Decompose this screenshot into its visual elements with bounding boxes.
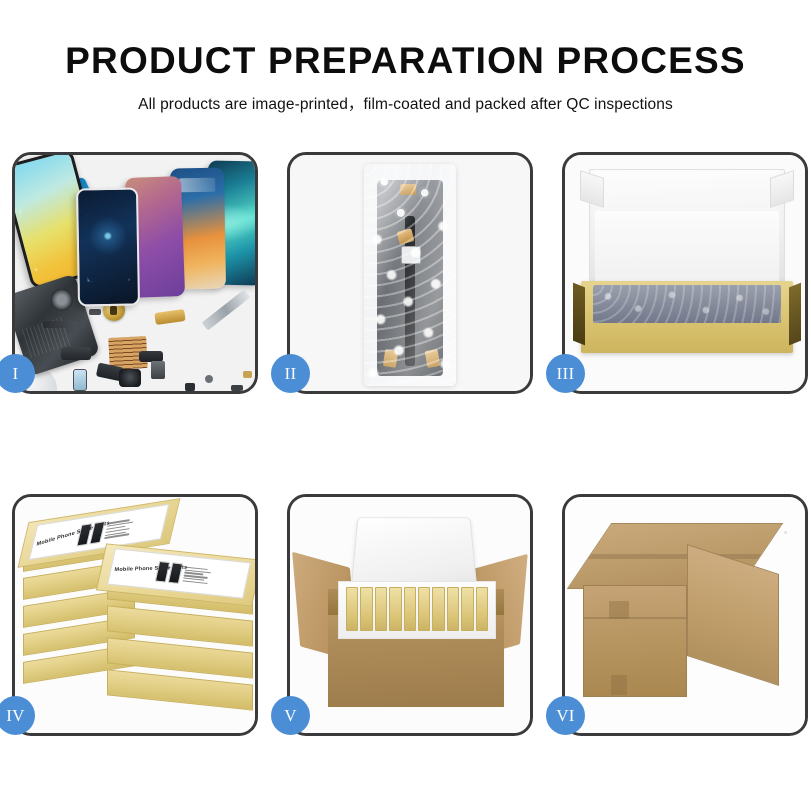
step-badge-2: II (271, 354, 310, 393)
process-step-grid: I II III (12, 152, 801, 736)
box-label-text: Mobile Phone Spare Parts (36, 530, 78, 548)
gold-box-upright (447, 587, 459, 631)
plastic-sheen-icon (364, 164, 456, 386)
tray-right-edge-icon (789, 283, 801, 346)
shield-plate-part-icon (231, 385, 243, 391)
vibrator-part-icon (89, 309, 101, 315)
step-image-1 (15, 155, 255, 391)
gold-box-upright (418, 587, 430, 631)
carton-front-face-icon (583, 585, 687, 697)
gold-box-upright (360, 587, 372, 631)
foam-liner-icon (595, 211, 779, 289)
tray-left-edge-icon (573, 283, 585, 346)
step-panel-2[interactable]: II (287, 152, 533, 394)
gold-box-stack-icon: Mobile Phone Spare Parts Mobile Phone Sp… (15, 497, 255, 733)
step-image-3 (565, 155, 805, 391)
page-header: PRODUCT PREPARATION PROCESS All products… (0, 0, 811, 114)
chip-part-icon (151, 361, 165, 379)
step-image-6 (565, 497, 805, 733)
speck-icon (784, 531, 787, 534)
step-badge-6: VI (546, 696, 585, 735)
flex-cable-gold-icon (154, 309, 185, 325)
carton-tape-seam-icon (583, 617, 687, 619)
step-panel-5[interactable]: V (287, 494, 533, 736)
earpiece-part-icon (43, 321, 77, 328)
step-image-2 (290, 155, 530, 391)
bubble-wrapped-contents-icon (593, 285, 781, 323)
box-label-text: Mobile Phone Spare Parts (114, 565, 155, 572)
step-image-5 (290, 497, 530, 733)
step-panel-6[interactable]: VI (562, 494, 808, 736)
carton-patch-icon (609, 601, 629, 619)
step-panel-1[interactable]: I (12, 152, 258, 394)
gold-box-upright (461, 587, 473, 631)
gold-box-upright (432, 587, 444, 631)
gold-boxes-inside-icon (346, 587, 488, 631)
gold-box-upright (389, 587, 401, 631)
phone-screen-dark-icon (76, 187, 140, 306)
page-title: PRODUCT PREPARATION PROCESS (0, 42, 811, 81)
gold-box-upright (404, 587, 416, 631)
bubble-wrap-package-icon (364, 164, 456, 386)
step-badge-3: III (546, 354, 585, 393)
screw-part-icon (185, 383, 195, 391)
gold-box-upright (375, 587, 387, 631)
gold-box-upright (346, 587, 358, 631)
bracket-part-icon (243, 371, 252, 378)
tweezers-icon (202, 289, 251, 330)
carton-side-face-icon (687, 544, 779, 686)
button-part-icon (205, 375, 213, 383)
page-subtitle: All products are image-printed，film-coat… (0, 92, 811, 114)
small-display-part-icon (73, 369, 87, 391)
flex-cable-dark-icon (61, 347, 91, 360)
step-badge-5: V (271, 696, 310, 735)
carton-patch-icon (611, 675, 627, 695)
step-image-4: Mobile Phone Spare Parts Mobile Phone Sp… (15, 497, 255, 733)
step-panel-3[interactable]: III (562, 152, 808, 394)
step-panel-4[interactable]: Mobile Phone Spare Parts Mobile Phone Sp… (12, 494, 258, 736)
camera-module-icon (119, 369, 141, 387)
gold-box-upright (476, 587, 488, 631)
